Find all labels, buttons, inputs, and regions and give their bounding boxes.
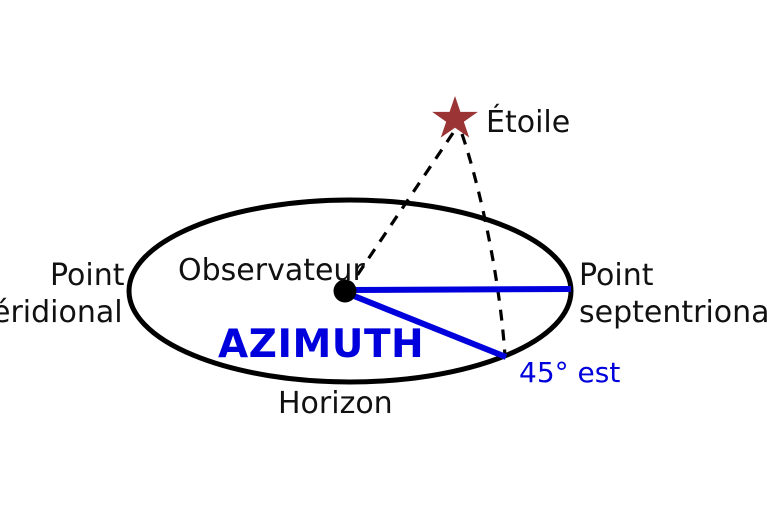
label-point-meridional-line2: éridional <box>0 295 123 330</box>
azimuth-diagram: Étoile Observateur Horizon AZIMUTH 45° e… <box>0 0 767 512</box>
label-point-septentrional-line1: Point <box>579 258 654 293</box>
star-icon <box>432 96 478 138</box>
drop-line-dashed <box>462 134 505 356</box>
azimuth-reference-line <box>345 289 571 290</box>
label-horizon: Horizon <box>278 386 393 421</box>
label-observer: Observateur <box>178 253 365 288</box>
label-angle: 45° est <box>519 356 620 389</box>
label-point-meridional-line1: Point <box>50 258 125 293</box>
label-star: Étoile <box>486 104 570 140</box>
label-point-septentrional-line2: septentrional <box>579 295 767 330</box>
diagram-canvas: Étoile Observateur Horizon AZIMUTH 45° e… <box>0 0 767 512</box>
label-azimuth: AZIMUTH <box>218 322 424 367</box>
